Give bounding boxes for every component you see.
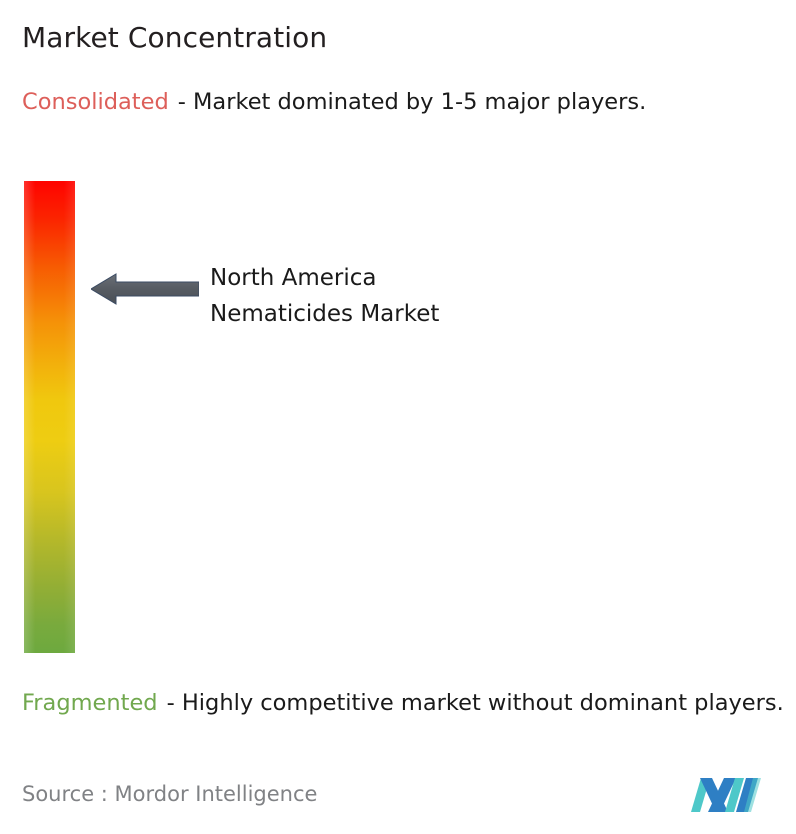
page-title: Market Concentration (22, 21, 327, 55)
marker-label-line2: Nematicides Market (210, 296, 439, 332)
mordor-intelligence-logo-icon (691, 770, 763, 812)
scale-bar-sheen (24, 181, 75, 653)
legend-term-consolidated: Consolidated (22, 89, 169, 115)
legend-description-fragmented: - Highly competitive market without domi… (167, 690, 784, 716)
left-arrow-icon (91, 272, 199, 306)
marker-label-north-america-nematicides: North America Nematicides Market (210, 260, 439, 332)
concentration-scale-bar (24, 181, 75, 653)
legend-description-consolidated: - Market dominated by 1-5 major players. (178, 89, 647, 115)
marker-label-line1: North America (210, 260, 439, 296)
legend-consolidated: Consolidated- Market dominated by 1-5 ma… (22, 87, 794, 118)
market-concentration-figure: Market Concentration Consolidated- Marke… (0, 0, 796, 834)
legend-fragmented: Fragmented- Highly competitive market wi… (22, 688, 794, 719)
legend-term-fragmented: Fragmented (22, 690, 158, 716)
source-attribution: Source : Mordor Intelligence (22, 780, 317, 808)
